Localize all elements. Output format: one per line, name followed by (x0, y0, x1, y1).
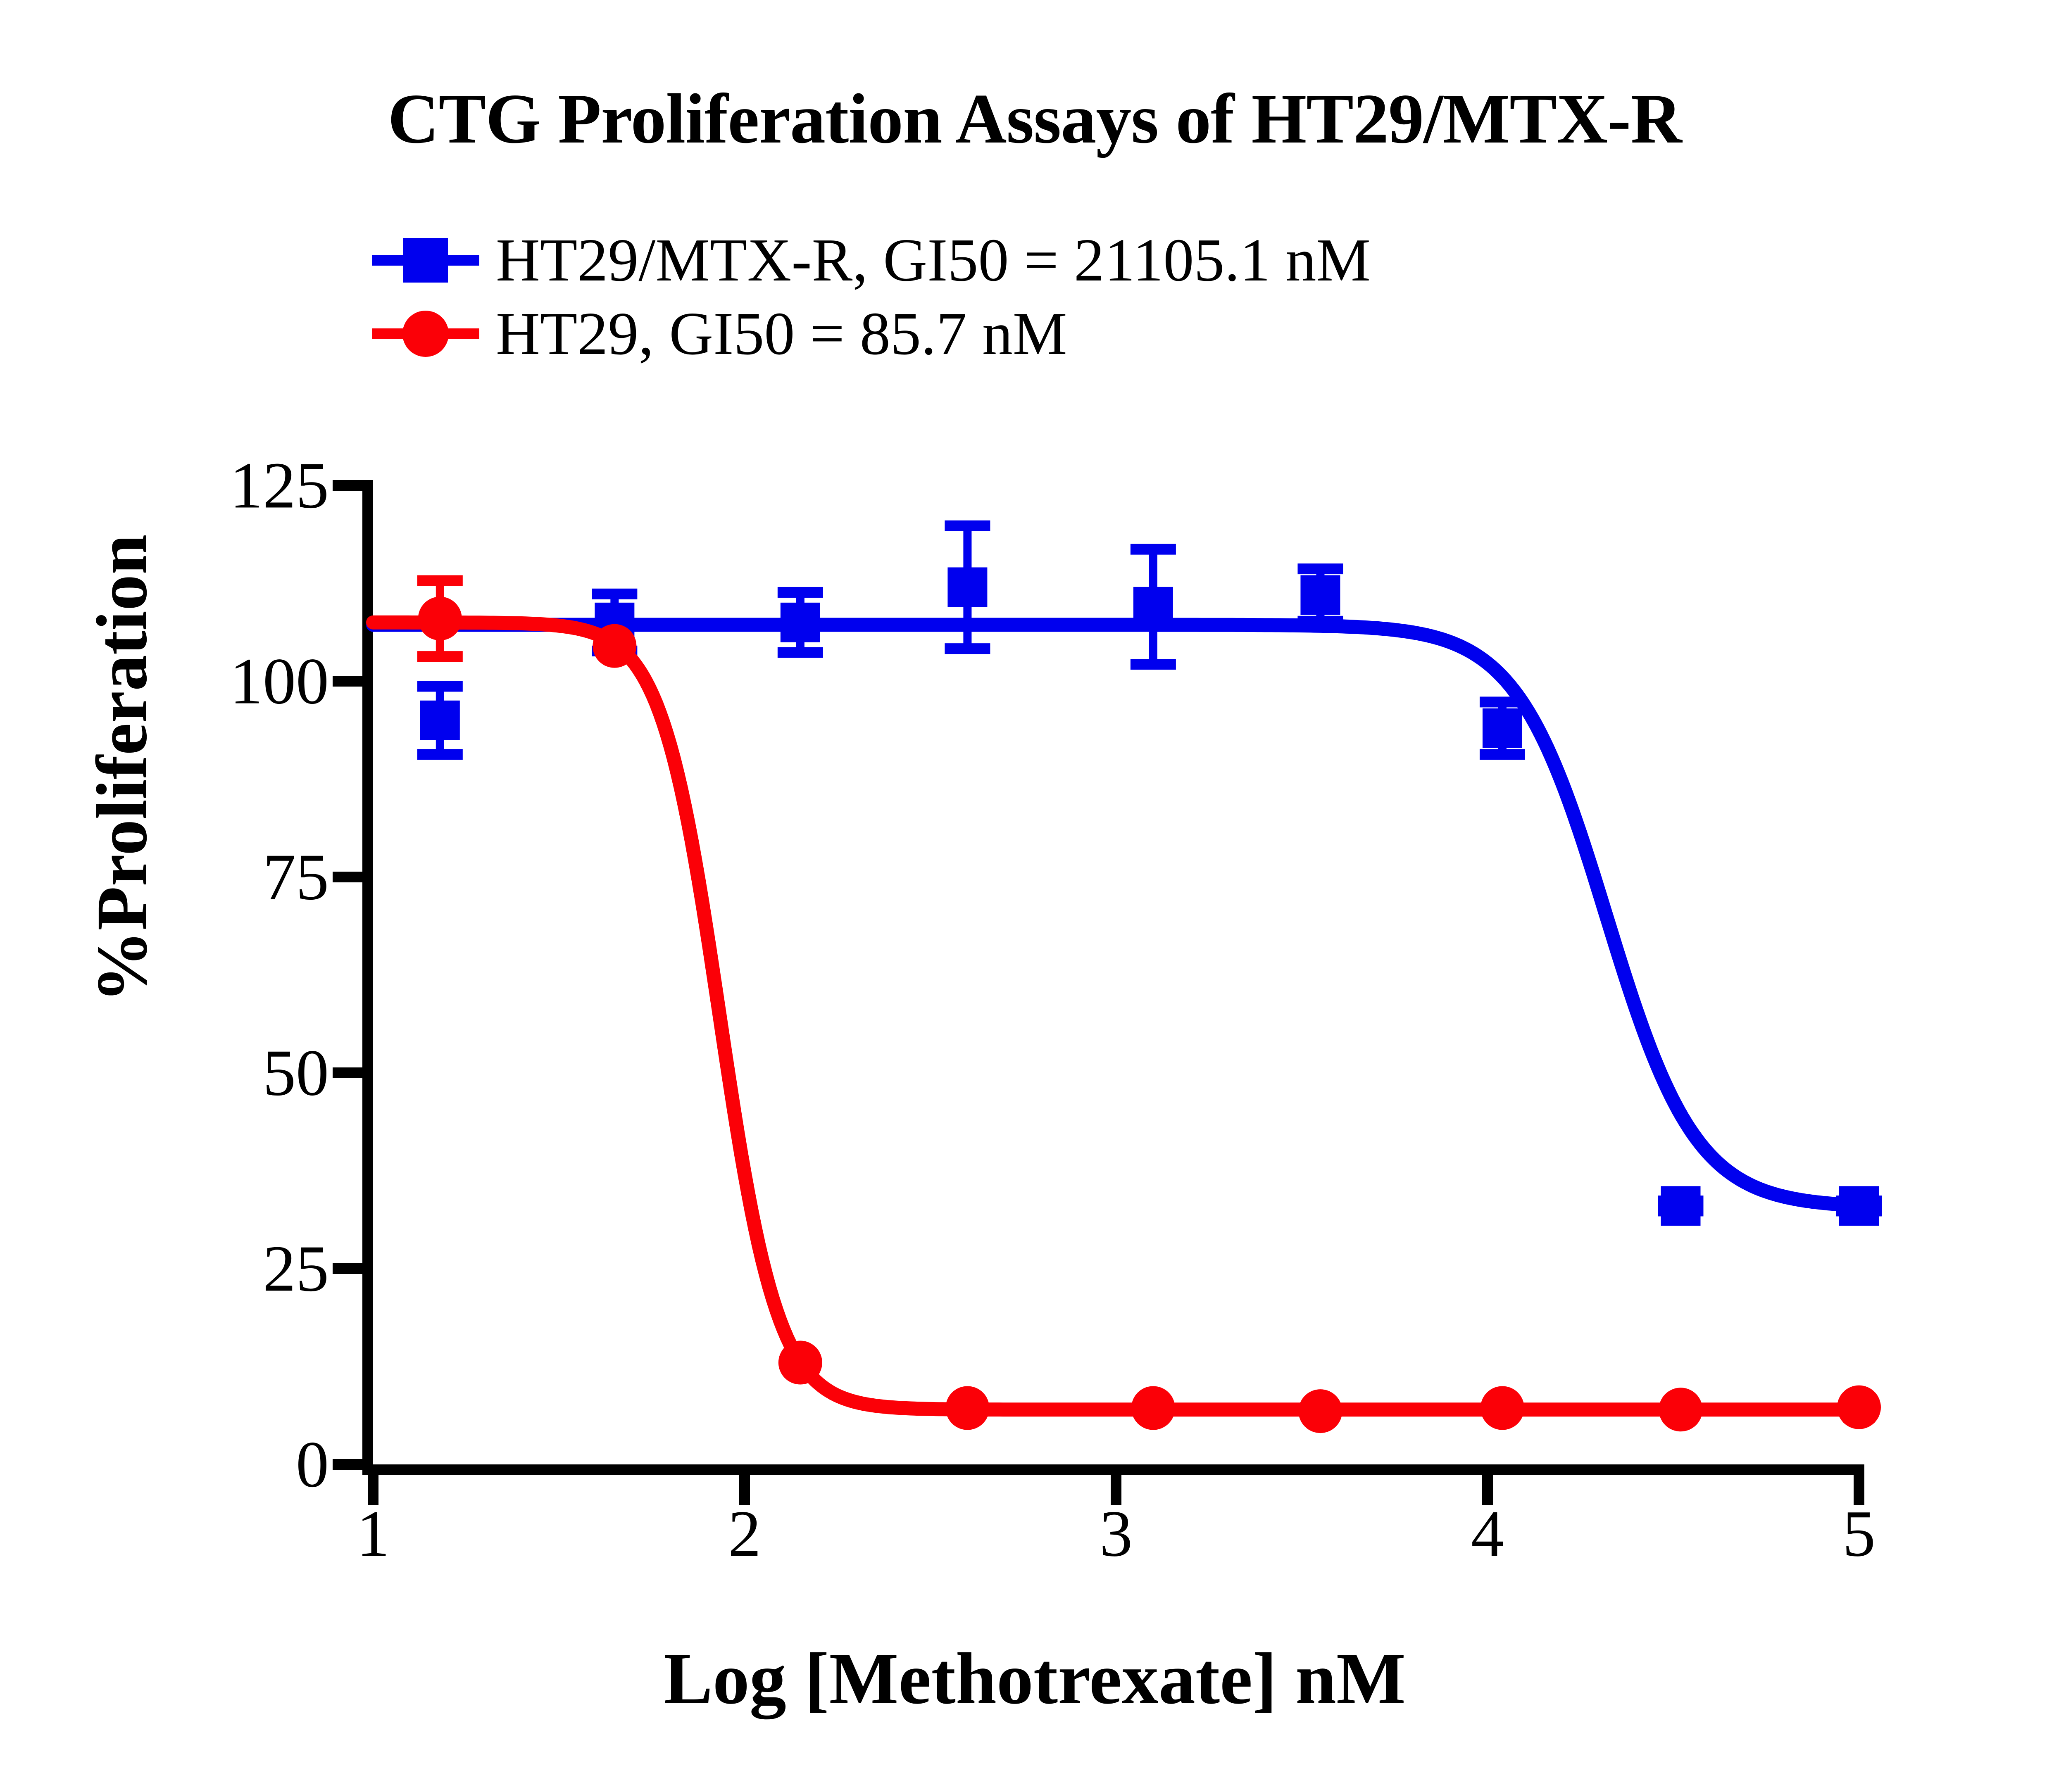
y-axis-tick (333, 1459, 362, 1470)
error-bar-cap (1480, 749, 1525, 760)
y-axis-tick (333, 1263, 362, 1274)
data-point-circle[interactable] (778, 1341, 822, 1385)
data-point-square[interactable] (1133, 587, 1173, 627)
series-blue (373, 520, 1882, 1226)
error-bar-cap (945, 643, 990, 654)
data-point-circle[interactable] (1480, 1386, 1524, 1430)
error-bar-cap (1297, 563, 1343, 574)
chart-figure: CTG Proliferation Assays of HT29/MTX-R H… (0, 0, 2066, 1792)
x-axis-tick (1854, 1475, 1864, 1505)
data-point-circle[interactable] (593, 624, 636, 668)
y-axis-tick (333, 1067, 362, 1078)
error-bar-cap (417, 575, 463, 586)
data-point-square[interactable] (947, 567, 987, 607)
y-axis-tick (333, 676, 362, 687)
series-red (373, 575, 1881, 1433)
plot-canvas (0, 0, 2066, 1792)
x-axis-tick (739, 1475, 750, 1505)
error-bar-cap (417, 651, 463, 662)
data-point-circle[interactable] (945, 1386, 989, 1430)
error-bar-cap (1297, 616, 1343, 627)
x-axis-tick (1482, 1475, 1493, 1505)
data-point-circle[interactable] (1659, 1388, 1702, 1431)
error-bar-cap (945, 520, 990, 531)
error-bar-cap (1480, 696, 1525, 707)
error-bar-cap (592, 589, 637, 599)
y-axis-tick (333, 872, 362, 882)
data-point-square[interactable] (1483, 708, 1522, 748)
data-point-square[interactable] (420, 701, 460, 740)
data-point-square[interactable] (781, 603, 820, 642)
data-point-square[interactable] (1661, 1186, 1700, 1226)
data-point-square[interactable] (1300, 575, 1340, 615)
error-bar-cap (778, 647, 823, 658)
x-axis-line (362, 1464, 1864, 1475)
data-series (373, 520, 1882, 1433)
error-bar-cap (1131, 544, 1176, 555)
data-point-circle[interactable] (418, 597, 462, 640)
data-point-circle[interactable] (1298, 1389, 1342, 1433)
error-bar-cap (417, 749, 463, 760)
x-axis-tick (368, 1475, 378, 1505)
data-point-circle[interactable] (1837, 1386, 1881, 1429)
error-bar-cap (417, 681, 463, 692)
error-bar-cap (1131, 659, 1176, 670)
fit-curve (373, 625, 1859, 1206)
y-axis-tick (333, 480, 362, 491)
data-point-circle[interactable] (1131, 1386, 1175, 1430)
data-point-square[interactable] (1839, 1186, 1879, 1226)
error-bar-cap (778, 587, 823, 598)
x-axis-tick (1111, 1475, 1121, 1505)
